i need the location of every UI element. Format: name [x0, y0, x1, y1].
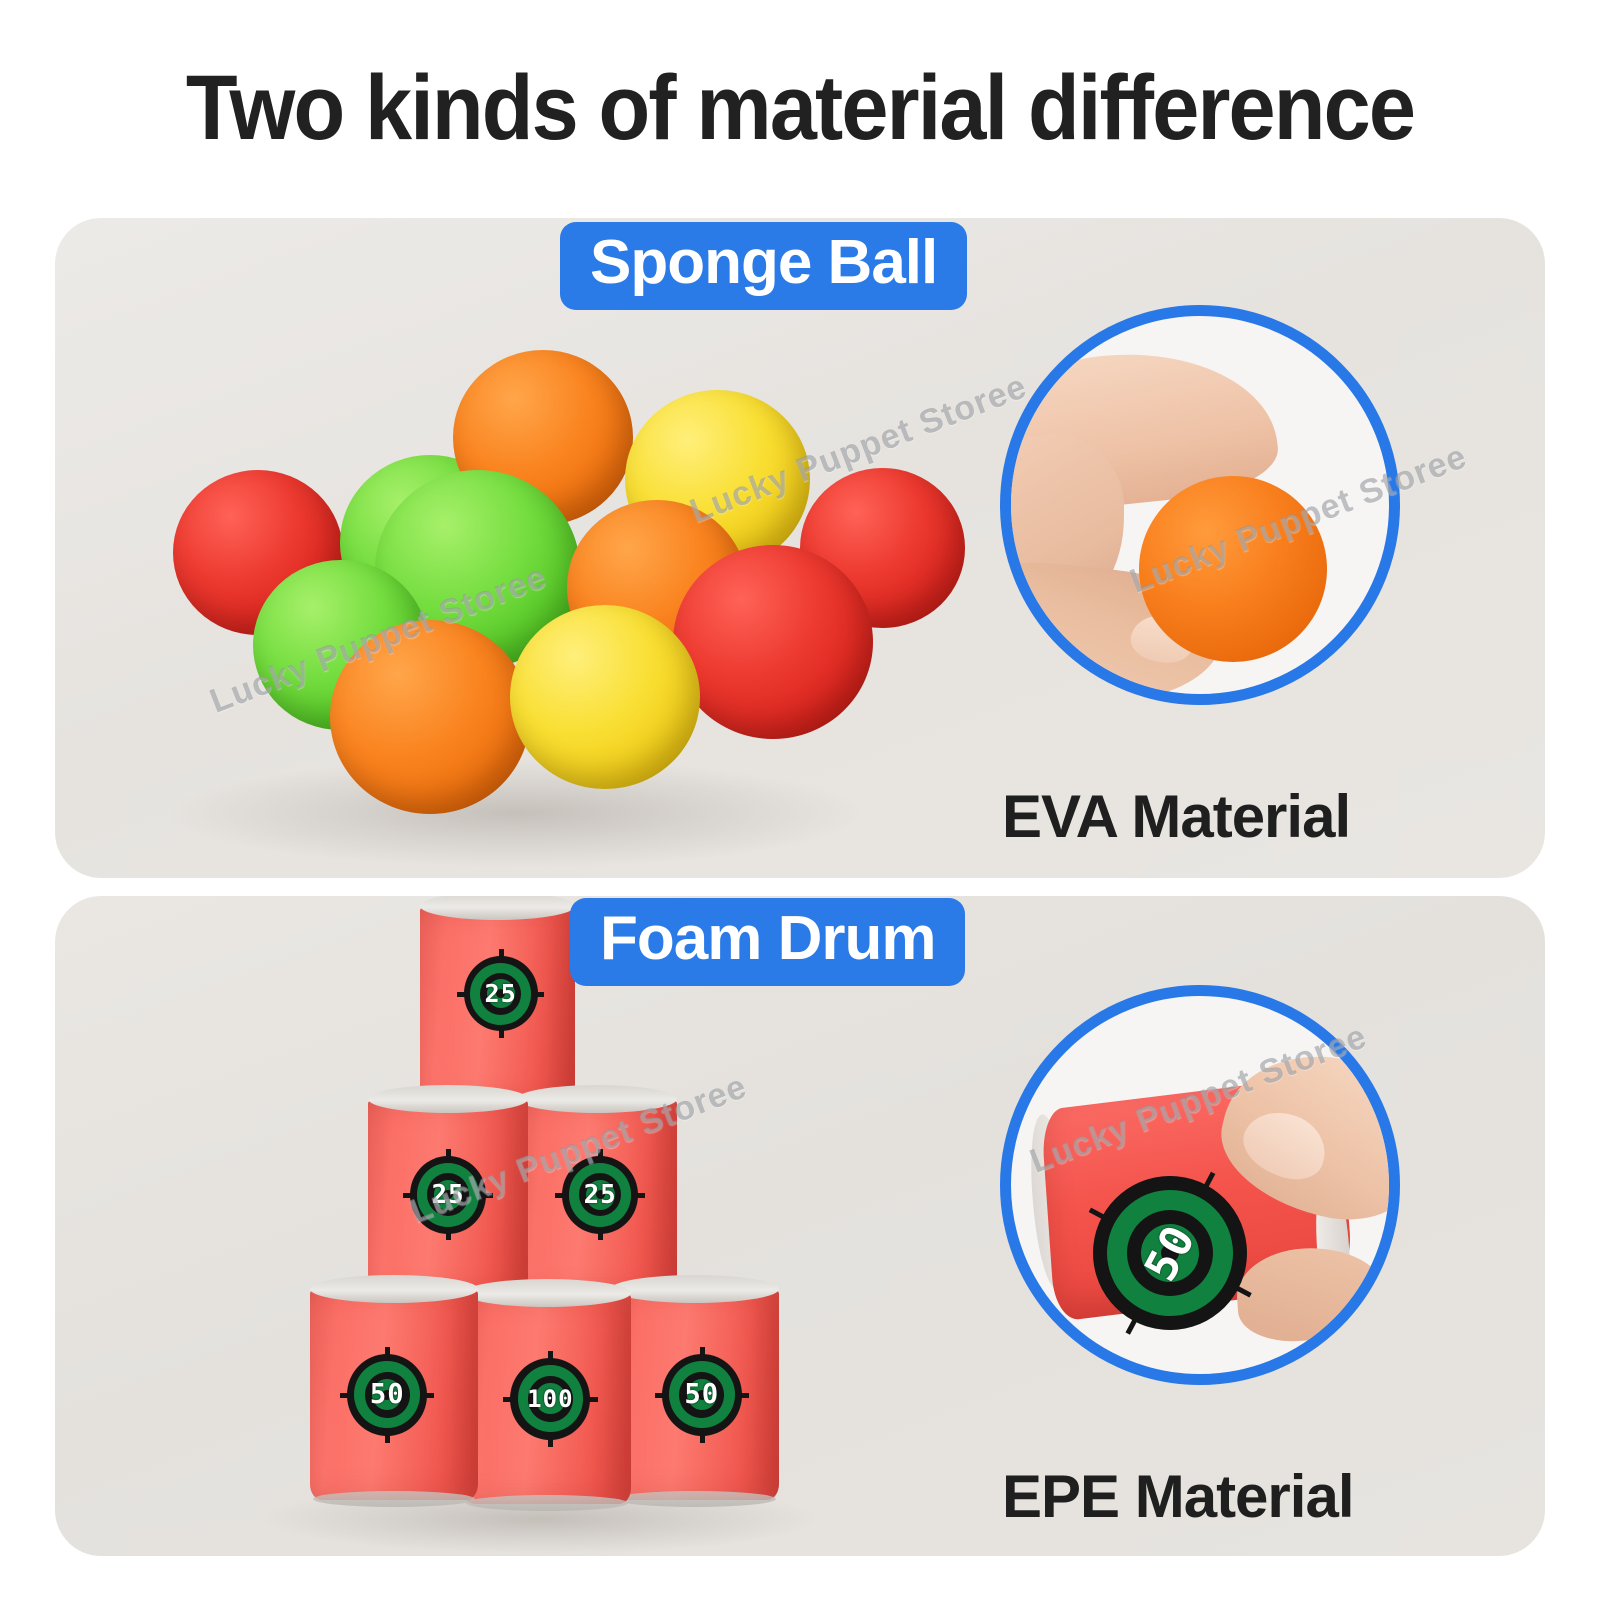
badge-foam-drum: Foam Drum — [570, 898, 965, 986]
drum-bottom-face — [466, 1495, 628, 1511]
drum-bot-left-50: 50 — [310, 1288, 478, 1500]
drum-bottom-face — [614, 1491, 776, 1507]
target-tick-t — [598, 1149, 603, 1161]
target-tick-r — [736, 1393, 749, 1398]
target-tick-l — [555, 1193, 567, 1198]
target-tick-l — [340, 1393, 353, 1398]
target-tick-t — [499, 949, 504, 961]
target-tick-l — [457, 992, 469, 997]
target-tick-l — [503, 1397, 516, 1402]
target-score-value: 100 — [527, 1385, 573, 1413]
drum-mid-right-25: 25 — [517, 1098, 677, 1298]
drum-top-face — [368, 1085, 528, 1113]
target-tick-l — [655, 1393, 668, 1398]
inset-eva-hand-ball — [1000, 305, 1400, 705]
target-tick-r — [481, 1193, 493, 1198]
target-tick-r — [422, 1393, 435, 1398]
target-decal: 25 — [464, 956, 538, 1031]
target-tick-t — [446, 1149, 451, 1161]
target-tick-t — [700, 1347, 705, 1360]
target-tick-l — [403, 1193, 415, 1198]
drum-top-face — [310, 1275, 478, 1303]
infographic-page: Two kinds of material difference Sponge … — [0, 0, 1600, 1600]
target-tick-r — [532, 992, 544, 997]
target-score-value: 25 — [584, 1180, 617, 1210]
drum-top-face — [611, 1275, 779, 1303]
target-tick-t — [385, 1347, 390, 1360]
target-tick-b — [385, 1430, 390, 1443]
target-decal: 50 — [347, 1354, 427, 1436]
target-tick-r — [633, 1193, 645, 1198]
target-score-value: 50 — [684, 1379, 719, 1410]
target-decal: 50 — [662, 1354, 742, 1436]
target-decal: 25 — [410, 1156, 486, 1234]
target-tick-left — [1126, 1311, 1142, 1335]
drum-top-face — [517, 1085, 677, 1113]
inset-epe-hand-drum: 50 — [1000, 985, 1400, 1385]
target-tick-r — [585, 1397, 598, 1402]
badge-sponge-ball: Sponge Ball — [560, 222, 967, 310]
drum-bot-right-50: 50 — [611, 1288, 779, 1500]
target-tick-b — [446, 1228, 451, 1240]
target-tick-b — [598, 1228, 603, 1240]
ball-red-lowright — [673, 545, 873, 739]
target-decal: 100 — [510, 1358, 590, 1440]
ball-orange-front — [330, 620, 530, 814]
target-score-value: 25 — [484, 979, 516, 1008]
caption-epe-material: EPE Material — [1002, 1462, 1354, 1531]
drum-bot-mid-100: 100 — [463, 1292, 631, 1504]
target-tick-t — [548, 1351, 553, 1364]
target-score-value: 25 — [431, 1180, 464, 1210]
page-title: Two kinds of material difference — [64, 56, 1536, 161]
drum-mid-left-25: 25 — [368, 1098, 528, 1298]
eva-orange-ball — [1139, 476, 1327, 662]
target-tick-b — [548, 1434, 553, 1447]
target-tick-b — [700, 1430, 705, 1443]
caption-eva-material: EVA Material — [1002, 782, 1350, 851]
target-decal: 25 — [562, 1156, 638, 1234]
ball-pile-shadow — [165, 758, 865, 868]
drum-bottom-face — [313, 1491, 475, 1507]
drum-top-face — [463, 1279, 631, 1307]
target-score-value: 50 — [370, 1379, 405, 1410]
target-tick-b — [499, 1026, 504, 1038]
ball-yellow-front — [510, 605, 700, 789]
drum-top-25: 25 — [420, 905, 575, 1105]
